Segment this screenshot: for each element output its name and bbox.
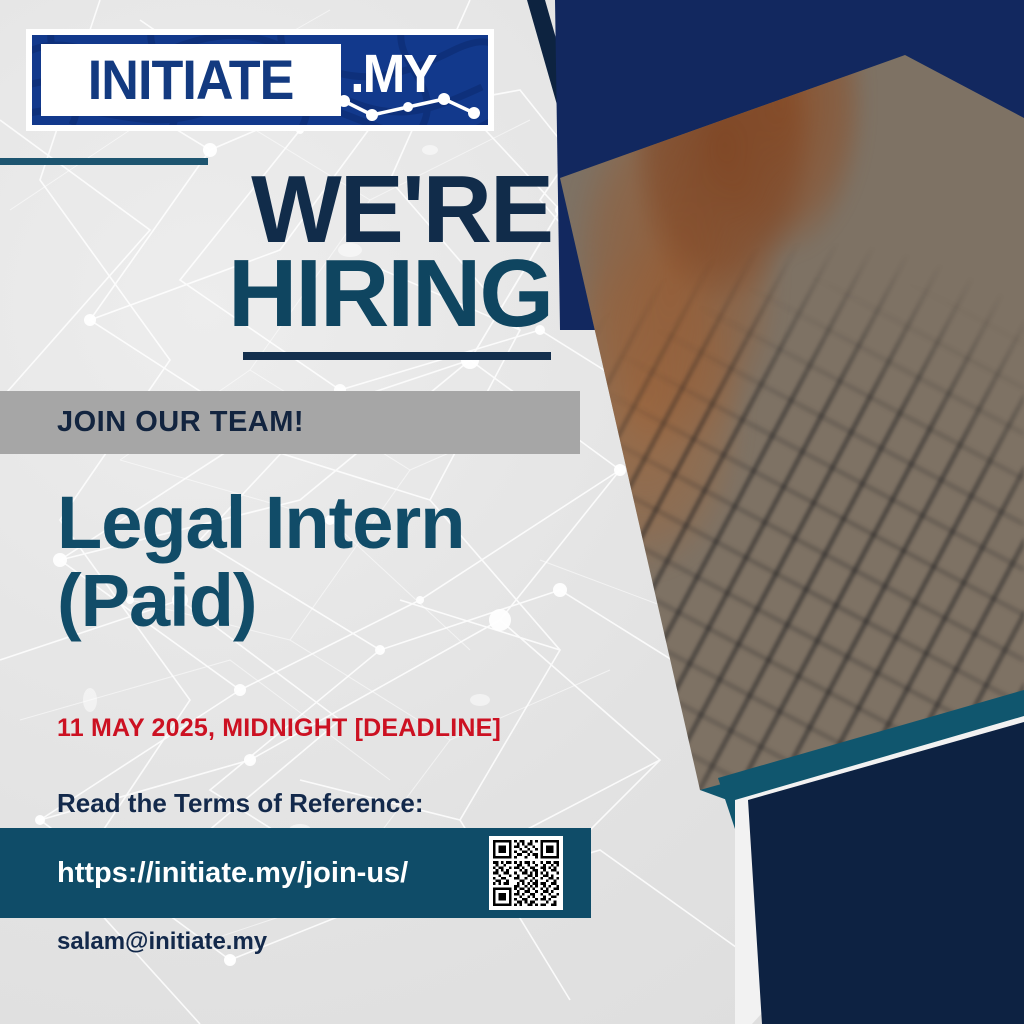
- job-title-line-1: Legal Intern: [57, 484, 577, 562]
- contact-email[interactable]: salam@initiate.my: [57, 928, 267, 956]
- terms-of-reference-label: Read the Terms of Reference:: [57, 788, 424, 819]
- qr-code[interactable]: [489, 836, 563, 910]
- job-title-line-2: (Paid): [57, 562, 577, 640]
- page-title: WE'RE HIRING: [0, 168, 552, 337]
- headline-bottom-rule: [243, 352, 551, 360]
- headline-top-rule: [0, 158, 208, 165]
- brand-logo: INITIATE .MY: [26, 29, 494, 131]
- deadline-text: 11 MAY 2025, MIDNIGHT [DEADLINE]: [57, 714, 501, 743]
- job-title: Legal Intern (Paid): [57, 484, 577, 641]
- application-url-link[interactable]: https://initiate.my/join-us/: [57, 857, 408, 890]
- headline-line-2: HIRING: [0, 252, 552, 336]
- logo-wordmark-initiate: INITIATE: [88, 52, 294, 108]
- qr-code-icon: [493, 840, 559, 906]
- logo-inner-panel: INITIATE .MY: [32, 35, 488, 125]
- logo-wordmark-box: INITIATE: [41, 44, 341, 116]
- logo-node-graph-icon: [334, 87, 484, 123]
- recruitment-poster: INITIATE .MY WE'RE HIRING JOIN OUR TEAM!…: [0, 0, 1024, 1024]
- join-team-label: JOIN OUR TEAM!: [57, 406, 304, 439]
